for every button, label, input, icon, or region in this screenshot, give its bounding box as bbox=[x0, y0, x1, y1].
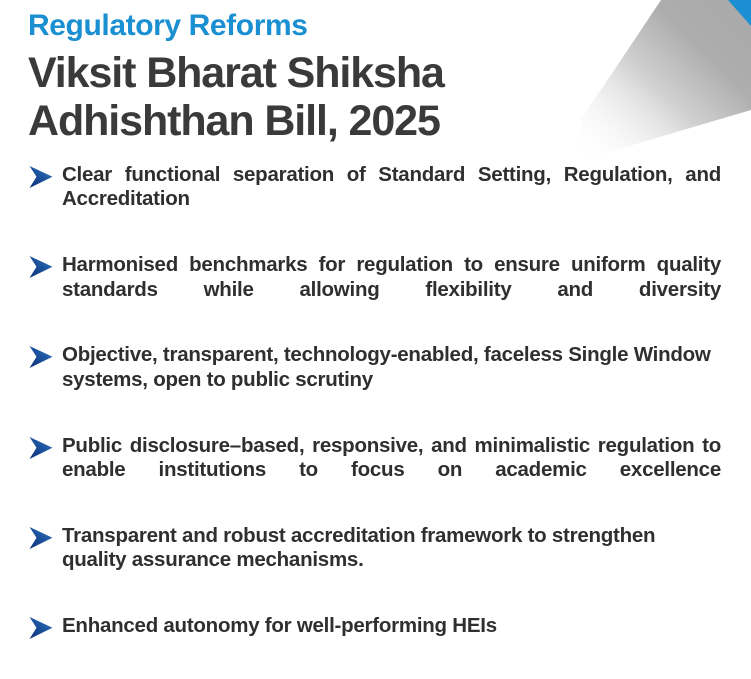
page-title-line-1: Viksit Bharat Shiksha bbox=[28, 50, 588, 97]
list-item: Harmonised benchmarks for regulation to … bbox=[28, 253, 721, 326]
arrow-bullet-icon bbox=[28, 345, 54, 369]
eyebrow-heading: Regulatory Reforms bbox=[28, 10, 721, 42]
arrow-bullet-icon bbox=[28, 436, 54, 460]
bullet-list: Clear functional separation of Standard … bbox=[28, 163, 721, 663]
arrow-bullet-icon bbox=[28, 616, 54, 640]
list-item: Clear functional separation of Standard … bbox=[28, 163, 721, 236]
list-item-label: Public disclosure–based, responsive, and… bbox=[62, 434, 721, 507]
page-title-line-2: Adhishthan Bill, 2025 bbox=[28, 98, 588, 145]
list-item: Objective, transparent, technology-enabl… bbox=[28, 343, 721, 416]
list-item: Enhanced autonomy for well-performing HE… bbox=[28, 614, 721, 663]
list-item-label: Objective, transparent, technology-enabl… bbox=[62, 343, 721, 416]
list-item-label: Harmonised benchmarks for regulation to … bbox=[62, 253, 721, 326]
page-title: Viksit Bharat Shiksha Adhishthan Bill, 2… bbox=[28, 50, 588, 145]
list-item-label: Transparent and robust accreditation fra… bbox=[62, 524, 721, 597]
arrow-bullet-icon bbox=[28, 526, 54, 550]
arrow-bullet-icon bbox=[28, 255, 54, 279]
slide-root: Regulatory Reforms Viksit Bharat Shiksha… bbox=[0, 0, 751, 679]
list-item: Transparent and robust accreditation fra… bbox=[28, 524, 721, 597]
list-item-label: Enhanced autonomy for well-performing HE… bbox=[62, 614, 721, 663]
arrow-bullet-icon bbox=[28, 165, 54, 189]
list-item-label: Clear functional separation of Standard … bbox=[62, 163, 721, 236]
list-item: Public disclosure–based, responsive, and… bbox=[28, 434, 721, 507]
